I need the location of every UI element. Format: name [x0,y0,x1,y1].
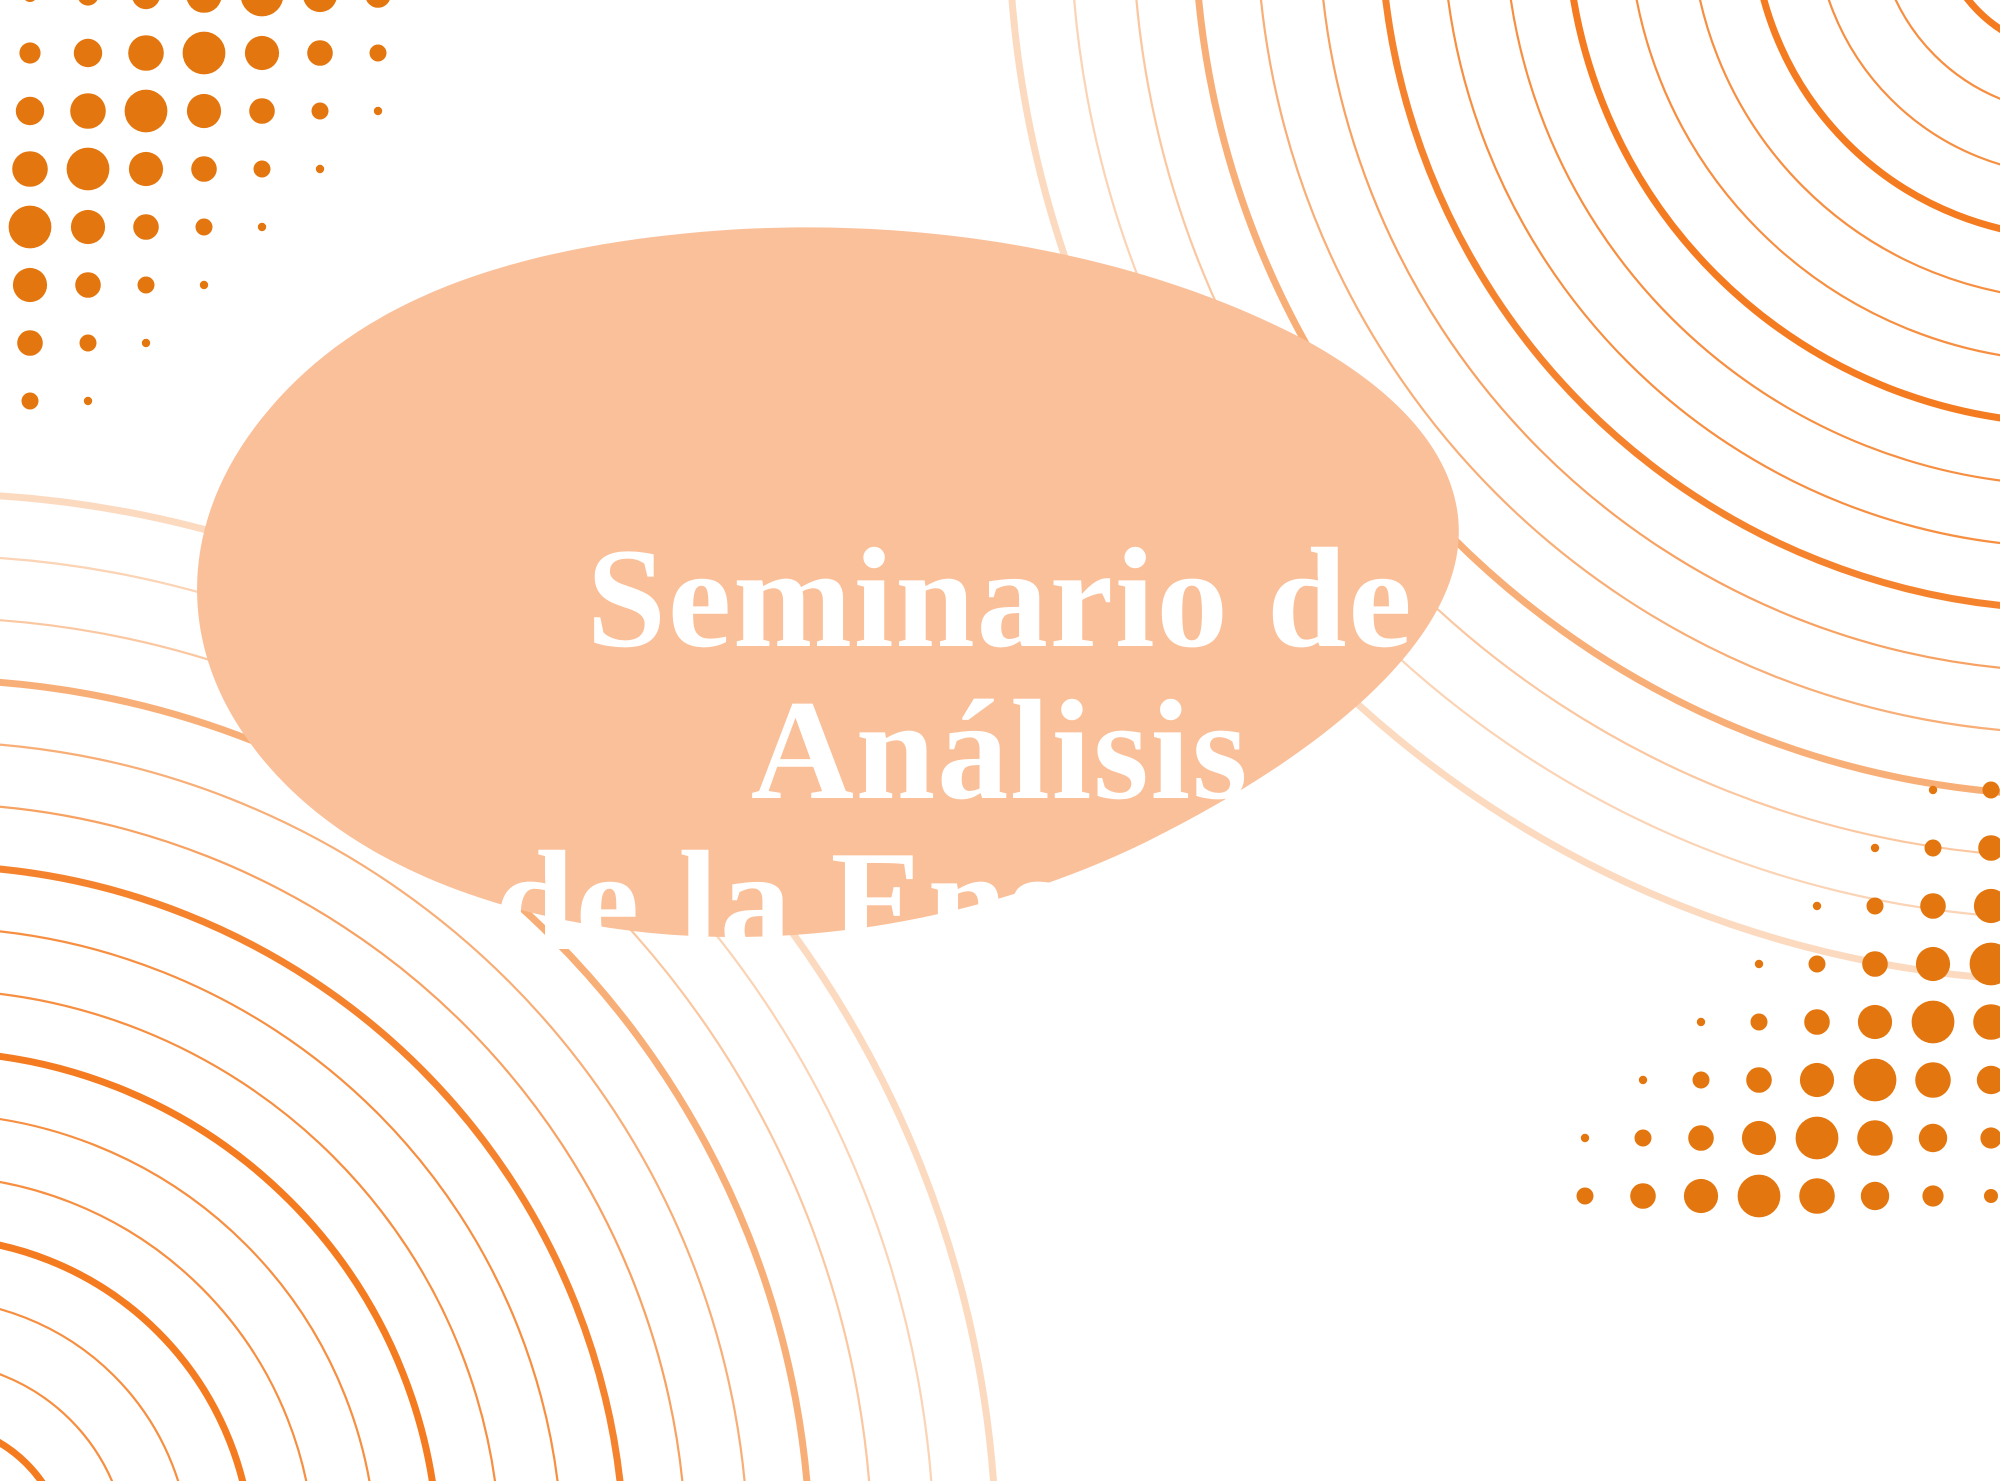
halftone-dot [1919,1124,1947,1152]
concentric-arc [0,1114,376,1481]
halftone-dot [1635,1130,1652,1147]
concentric-arc [0,990,500,1481]
halftone-dot [1862,951,1888,977]
halftone-dot [196,219,213,236]
halftone-dot [1693,1072,1710,1089]
concentric-arc [0,1362,128,1481]
concentric-arc [1691,0,2000,299]
halftone-dot [200,281,208,289]
halftone-dot [1858,1005,1892,1039]
halftone-dot [22,393,39,410]
halftone-dot [16,97,44,125]
halftone-dot [70,93,106,129]
halftone-dot [245,36,279,70]
halftone-dot [80,335,97,352]
halftone-dot [1920,893,1946,919]
halftone-dot [1929,786,1937,794]
halftone-dot [12,151,48,187]
halftone-dot [129,152,163,186]
halftone-dot [1697,1018,1705,1026]
halftone-dot [71,210,105,244]
halftone-dot [1799,1178,1835,1214]
halftone-dot [1854,1059,1897,1102]
concentric-arc [1939,0,2000,51]
concentric-arc [1753,0,2000,237]
halftone-dot [1804,1009,1830,1035]
halftone-dot [1639,1076,1647,1084]
halftone-dot [1857,1120,1893,1156]
halftone-dot [1912,1001,1955,1044]
halftone-dot [1746,1067,1772,1093]
halftone-dot [9,206,52,249]
concentric-arc [1443,0,2000,547]
halftone-dot [249,98,275,124]
halftone-dot [125,90,168,133]
halftone-dot [1980,1127,2000,1148]
halftone-dot [1738,1175,1781,1218]
halftone-dot [23,0,37,2]
halftone-dot [132,0,160,9]
concentric-arc [0,1300,190,1481]
halftone-dot [1800,1063,1834,1097]
halftone-dot [1755,960,1763,968]
halftone-dot [1871,844,1879,852]
halftone-dot [1684,1179,1718,1213]
halftone-dot [1813,902,1821,910]
halftone-dot [84,397,92,405]
halftone-dot [133,214,159,240]
halftone-dot [1915,1062,1951,1098]
halftone-dot [183,32,226,75]
halftone-dot [191,156,217,182]
slide-canvas: Seminario de Análisis de la Enseñanza [0,0,2000,1481]
halftone-dot [1974,889,2000,923]
halftone-dot [303,0,337,12]
halftone-dot [1581,1134,1589,1142]
halftone-dot [1809,956,1826,973]
halftone-dot [13,268,47,302]
halftone-dot [374,107,382,115]
halftone-dot [1984,1189,1998,1203]
concentric-arc [1815,0,2000,175]
halftone-dot [1751,1014,1768,1031]
halftone-dot [186,0,222,13]
concentric-arc [0,1424,66,1481]
decorative-background [0,0,2000,1481]
halftone-dot [241,0,284,16]
halftone-dots-bottom-right [1577,782,2000,1218]
halftone-dot [1688,1125,1714,1151]
halftone-dot [77,0,98,6]
halftone-dot [74,39,102,67]
halftone-dot [1742,1121,1776,1155]
halftone-dot [312,103,329,120]
concentric-arc [1567,0,2000,423]
concentric-arc [1629,0,2000,361]
halftone-dot [1925,840,1942,857]
halftone-dot [307,40,333,66]
halftone-dot [1983,782,2000,799]
halftone-dot [365,0,391,8]
halftone-dot [142,339,150,347]
halftone-dot [1796,1117,1839,1160]
halftone-dot [1630,1183,1656,1209]
halftone-dot [19,42,40,63]
halftone-dot [370,45,387,62]
halftone-dots-top-left [9,0,391,409]
concentric-arc [0,866,624,1481]
concentric-arc [0,1238,252,1481]
halftone-dot [1977,1066,2000,1094]
halftone-dot [1916,947,1950,981]
halftone-dot [17,330,43,356]
halftone-dot [138,277,155,294]
halftone-dot [67,148,110,191]
halftone-dot [1973,1004,2000,1040]
halftone-dot [1978,835,2000,861]
halftone-dot [316,165,324,173]
halftone-dot [254,161,271,178]
organic-blob [197,227,1459,937]
concentric-arc [1381,0,2000,609]
halftone-dot [187,94,221,128]
halftone-dot [75,272,101,298]
halftone-dot [1867,898,1884,915]
concentric-arc [1505,0,2000,485]
halftone-dot [1861,1182,1889,1210]
halftone-dot [1577,1188,1594,1205]
halftone-dot [258,223,266,231]
halftone-dot [1922,1185,1943,1206]
halftone-dot [128,35,164,71]
